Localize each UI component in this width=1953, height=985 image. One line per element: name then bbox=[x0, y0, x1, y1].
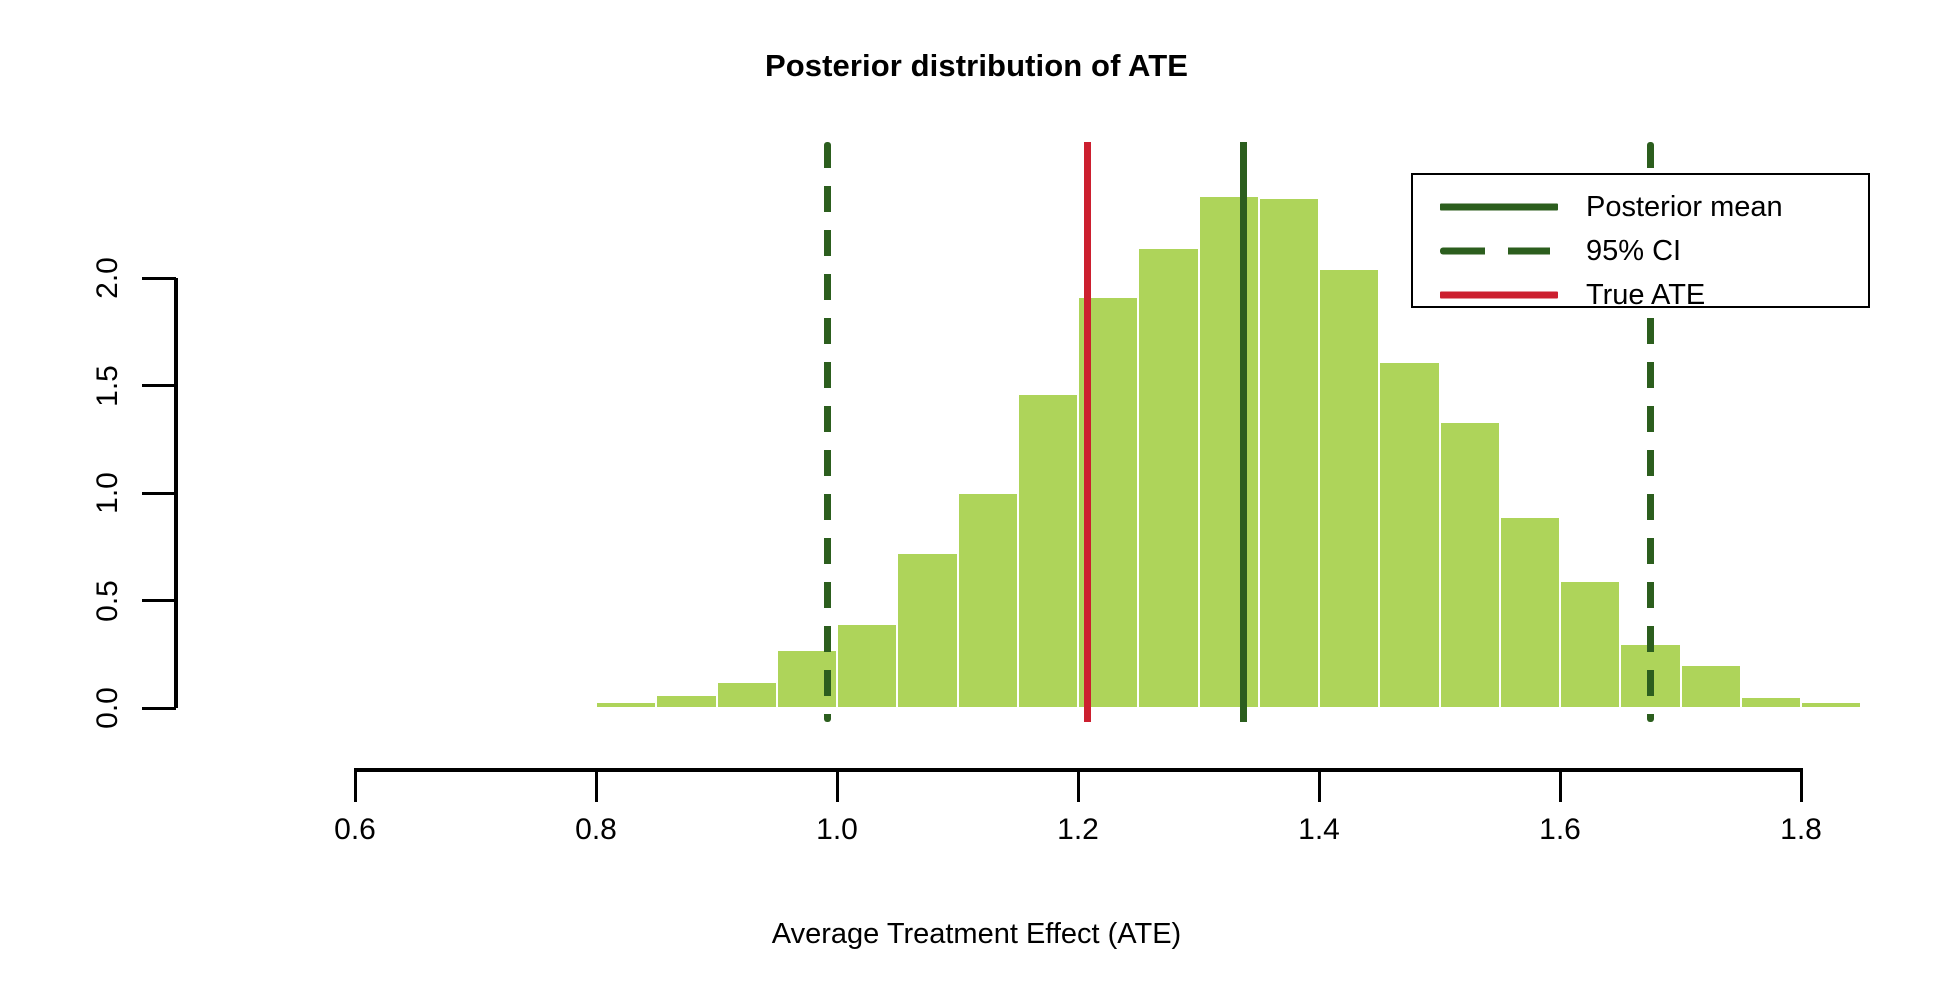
legend-item-ci: 95% CI bbox=[1413, 229, 1868, 273]
histogram-bar bbox=[476, 706, 536, 708]
y-axis-tick-label: 0.5 bbox=[91, 580, 125, 622]
x-axis-tick bbox=[595, 768, 598, 802]
histogram-bar bbox=[1681, 665, 1741, 708]
histogram-bar bbox=[1379, 362, 1439, 708]
legend-key-true-ate bbox=[1440, 283, 1558, 307]
legend-key-posterior-mean bbox=[1440, 195, 1558, 219]
true-ate-line bbox=[1084, 142, 1091, 722]
y-axis-tick-label: 1.0 bbox=[91, 472, 125, 514]
y-axis-tick-label: 1.5 bbox=[91, 365, 125, 407]
histogram-bar bbox=[837, 624, 897, 708]
x-axis-tick bbox=[1318, 768, 1321, 802]
histogram-bar bbox=[717, 682, 777, 708]
solid-line-icon bbox=[1440, 292, 1558, 299]
x-axis-tick-label: 0.6 bbox=[334, 813, 376, 847]
x-axis-tick bbox=[1559, 768, 1562, 802]
x-axis-tick bbox=[836, 768, 839, 802]
histogram-bar bbox=[1440, 422, 1500, 708]
legend-item-posterior-mean: Posterior mean bbox=[1413, 185, 1868, 229]
histogram-bar bbox=[596, 702, 656, 708]
x-axis-tick bbox=[1077, 768, 1080, 802]
chart-canvas: Posterior distribution of ATE 0.60.81.01… bbox=[0, 0, 1953, 985]
histogram-bar bbox=[958, 493, 1018, 708]
y-axis-tick bbox=[142, 707, 176, 710]
histogram-bar bbox=[656, 695, 716, 708]
y-axis-tick-label: 0.0 bbox=[91, 687, 125, 729]
plot-panel: 0.60.81.01.21.41.61.80.00.51.01.52.0Aver… bbox=[0, 0, 1953, 985]
y-axis-tick bbox=[142, 384, 176, 387]
histogram-bar bbox=[1319, 269, 1379, 708]
histogram-bar bbox=[1801, 702, 1861, 708]
histogram-bar bbox=[536, 706, 596, 708]
ci-lower-line bbox=[824, 142, 831, 722]
posterior-mean-line bbox=[1240, 142, 1247, 722]
histogram-bar bbox=[1018, 394, 1078, 708]
histogram-bar bbox=[1741, 697, 1801, 708]
y-axis-tick-label: 2.0 bbox=[91, 257, 125, 299]
histogram-bar bbox=[1138, 248, 1198, 708]
histogram-bar bbox=[1500, 517, 1560, 708]
histogram-bar bbox=[1199, 196, 1259, 708]
histogram-bar bbox=[1259, 198, 1319, 708]
x-axis-tick-label: 1.0 bbox=[816, 813, 858, 847]
dashed-line-icon bbox=[1440, 248, 1558, 255]
x-axis-tick-label: 1.4 bbox=[1298, 813, 1340, 847]
histogram-bar bbox=[1560, 581, 1620, 708]
legend-label-true-ate: True ATE bbox=[1586, 279, 1705, 312]
y-axis-tick bbox=[142, 277, 176, 280]
y-axis-tick bbox=[142, 492, 176, 495]
legend-label-ci: 95% CI bbox=[1586, 235, 1681, 268]
x-axis-tick-label: 1.2 bbox=[1057, 813, 1099, 847]
solid-line-icon bbox=[1440, 204, 1558, 211]
legend-label-posterior-mean: Posterior mean bbox=[1586, 191, 1783, 224]
x-axis-tick-label: 1.6 bbox=[1539, 813, 1581, 847]
legend-item-true-ate: True ATE bbox=[1413, 273, 1868, 317]
x-axis-tick-label: 1.8 bbox=[1780, 813, 1822, 847]
x-axis-tick bbox=[1800, 768, 1803, 802]
histogram-bar bbox=[897, 553, 957, 708]
chart-legend: Posterior mean 95% CI True ATE bbox=[1411, 173, 1870, 308]
x-axis-tick bbox=[354, 768, 357, 802]
legend-key-ci bbox=[1440, 239, 1558, 263]
y-axis-tick bbox=[142, 599, 176, 602]
x-axis-title: Average Treatment Effect (ATE) bbox=[0, 918, 1953, 951]
x-axis-tick-label: 0.8 bbox=[575, 813, 617, 847]
